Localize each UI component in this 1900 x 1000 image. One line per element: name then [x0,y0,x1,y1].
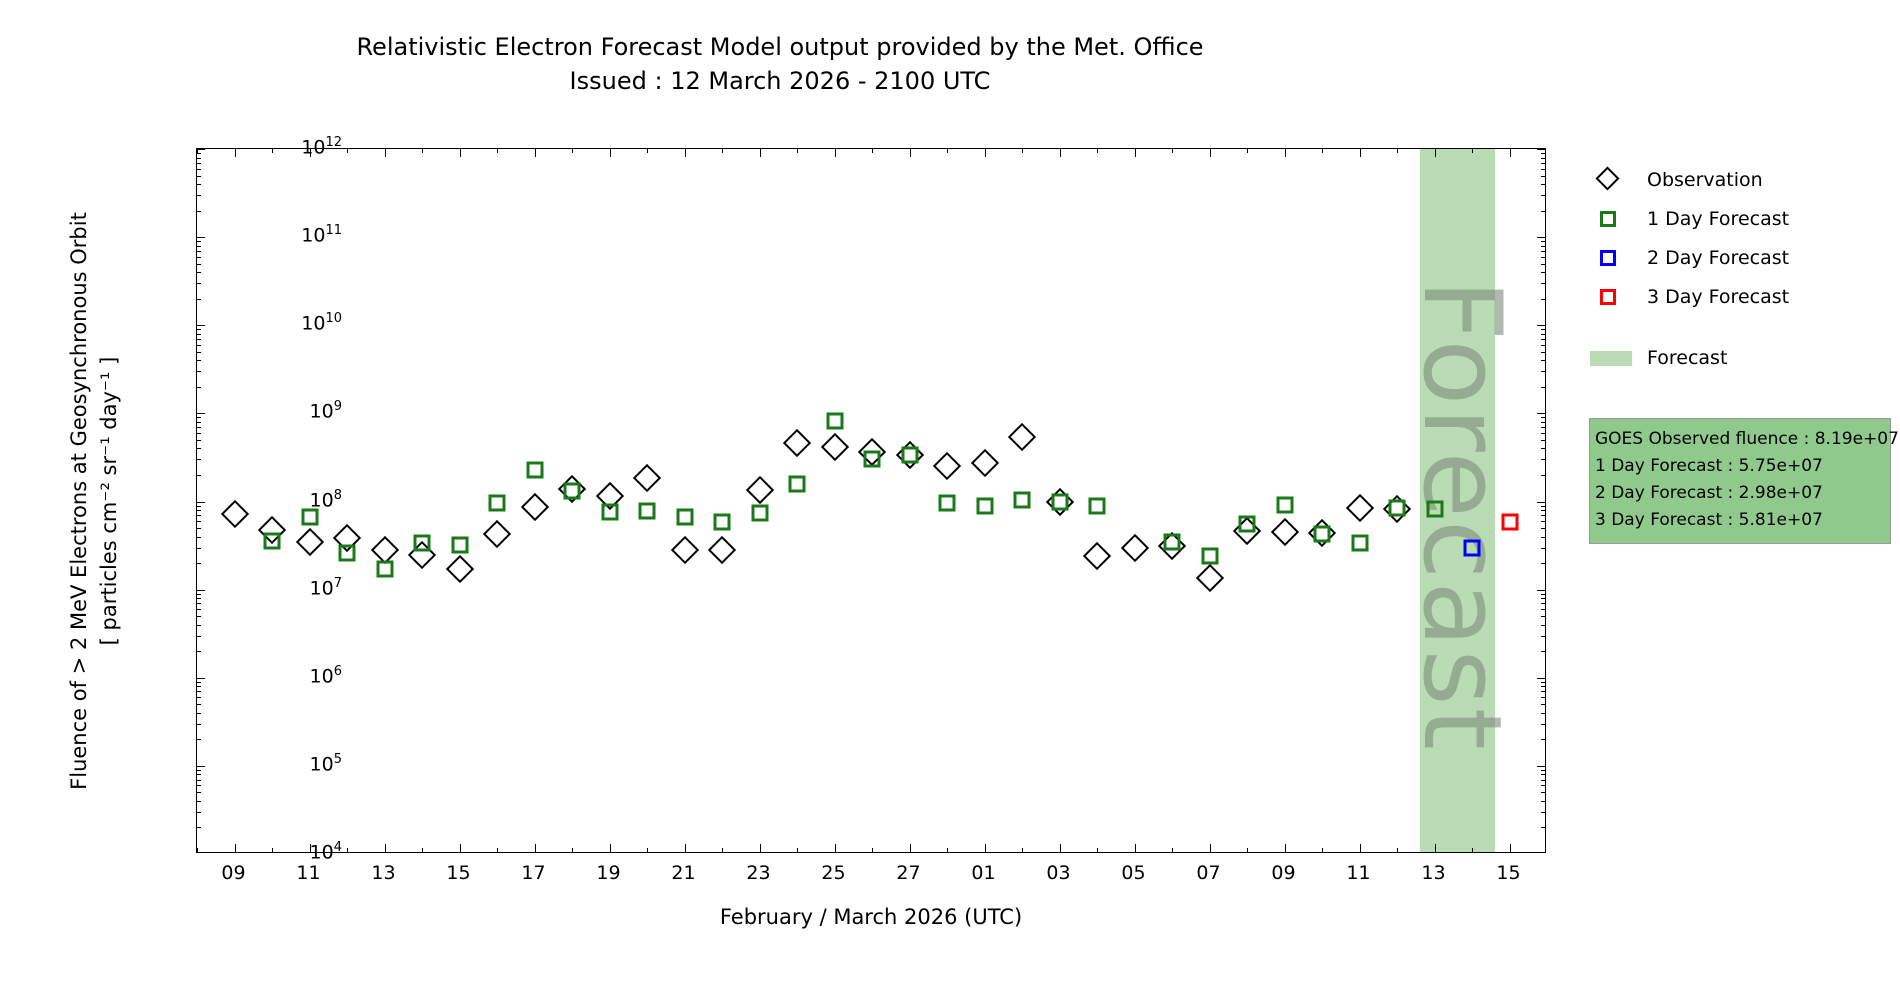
data-point-1-day-forecast [1239,515,1256,532]
y-axis-minor-tick [1541,609,1545,610]
y-axis-minor-tick [1541,153,1545,154]
legend-item-label: 1 Day Forecast [1636,208,1789,230]
x-axis-tick [385,844,386,852]
y-axis-minor-tick [1541,440,1545,441]
data-point-observation [670,536,698,564]
legend-item-observation[interactable]: Observation [1588,160,1888,199]
y-axis-minor-tick [197,724,201,725]
y-axis-minor-tick [197,427,201,428]
y-axis-tick [197,590,205,591]
x-axis-tick [1135,844,1136,852]
y-axis-minor-tick [1541,603,1545,604]
y-axis-minor-tick [1541,521,1545,522]
y-axis-minor-tick [197,153,201,154]
data-point-1-day-forecast [1426,501,1443,518]
y-axis-minor-tick [197,211,201,212]
chart-legend: Observation1 Day Forecast2 Day Forecast3… [1588,160,1888,377]
y-axis-minor-tick [1541,713,1545,714]
y-axis-minor-tick [197,774,201,775]
data-point-1-day-forecast [601,504,618,521]
x-axis-minor-tick [947,848,948,852]
y-axis-minor-tick [1541,427,1545,428]
y-axis-minor-tick [197,691,201,692]
y-axis-minor-tick [1541,682,1545,683]
data-point-1-day-forecast [564,483,581,500]
y-axis-minor-tick [1541,774,1545,775]
y-axis-minor-tick [197,158,201,159]
data-point-observation [1083,542,1111,570]
data-point-1-day-forecast [1314,525,1331,542]
y-axis-minor-tick [1541,598,1545,599]
data-point-observation [1195,564,1223,592]
y-axis-minor-tick [1541,184,1545,185]
x-axis-tick [535,844,536,852]
x-axis-tick [685,149,686,157]
y-axis-minor-tick [197,339,201,340]
y-axis-minor-tick [197,625,201,626]
y-axis-minor-tick [197,528,201,529]
data-point-observation [933,452,961,480]
data-point-1-day-forecast [901,446,918,463]
info-box-line: 3 Day Forecast : 5.81e+07 [1595,507,1885,534]
x-axis-tick-label: 11 [1329,862,1389,884]
x-axis-minor-tick [197,848,198,852]
y-axis-tick [1537,325,1545,326]
x-axis-minor-tick [347,149,348,153]
y-axis-minor-tick [1541,506,1545,507]
data-point-1-day-forecast [1164,533,1181,550]
y-axis-minor-tick [197,739,201,740]
y-axis-minor-tick [1541,459,1545,460]
data-point-1-day-forecast [676,509,693,526]
band-swatch-icon [1588,345,1636,371]
y-axis-minor-tick [1541,704,1545,705]
x-axis-minor-tick [1322,149,1323,153]
y-axis-tick [1537,678,1545,679]
x-axis-minor-tick [1472,149,1473,153]
x-axis-tick [610,149,611,157]
data-point-observation [220,499,248,527]
legend-marker-glyph [1595,166,1619,190]
y-axis-minor-tick [197,433,201,434]
x-axis-minor-tick [872,149,873,153]
y-axis-tick [1537,590,1545,591]
y-axis-minor-tick [197,801,201,802]
x-axis-tick [685,844,686,852]
x-axis-tick-label: 03 [1029,862,1089,884]
y-axis-minor-tick [197,176,201,177]
y-axis-minor-tick [1541,339,1545,340]
y-axis-minor-tick [197,329,201,330]
data-point-observation [783,429,811,457]
y-axis-minor-tick [197,272,201,273]
square-icon [1588,206,1636,232]
x-axis-tick [610,844,611,852]
y-axis-minor-tick [197,697,201,698]
y-axis-minor-tick [1541,299,1545,300]
data-point-1-day-forecast [1351,534,1368,551]
x-axis-minor-tick [1172,149,1173,153]
plot-area: Forecast [196,148,1546,853]
data-point-1-day-forecast [264,532,281,549]
data-point-1-day-forecast [1014,491,1031,508]
y-axis-minor-tick [1541,417,1545,418]
legend-item-label: 3 Day Forecast [1636,286,1789,308]
legend-item-2-day-forecast[interactable]: 2 Day Forecast [1588,238,1888,277]
data-point-1-day-forecast [1389,500,1406,517]
x-axis-tick [1435,149,1436,157]
data-point-1-day-forecast [939,494,956,511]
data-point-1-day-forecast [751,504,768,521]
data-point-1-day-forecast [1201,548,1218,565]
y-axis-minor-tick [197,686,201,687]
y-axis-minor-tick [197,264,201,265]
y-axis-minor-tick [197,169,201,170]
data-point-1-day-forecast [789,475,806,492]
data-point-1-day-forecast [639,503,656,520]
y-axis-minor-tick [1541,211,1545,212]
y-axis-tick-label: 1012 [301,135,342,158]
y-axis-minor-tick [197,598,201,599]
legend-item-3-day-forecast[interactable]: 3 Day Forecast [1588,277,1888,316]
fluence-info-box: GOES Observed fluence : 8.19e+071 Day Fo… [1589,418,1891,544]
data-point-observation [708,536,736,564]
x-axis-minor-tick [647,149,648,153]
x-axis-tick [1285,149,1286,157]
y-axis-tick [197,149,205,150]
x-axis-tick [460,844,461,852]
x-axis-tick [385,149,386,157]
data-point-1-day-forecast [526,461,543,478]
y-axis-minor-tick [1541,724,1545,725]
y-axis-minor-tick [197,334,201,335]
x-axis-tick [1360,844,1361,852]
y-axis-tick-label: 109 [310,399,342,422]
y-axis-tick [197,237,205,238]
x-axis-minor-tick [497,149,498,153]
y-axis-minor-tick [1541,594,1545,595]
data-point-1-day-forecast [714,514,731,531]
y-axis-label: Fluence of > 2 MeV Electrons at Geosynch… [74,148,114,853]
y-axis-tick [1537,149,1545,150]
y-axis-minor-tick [197,448,201,449]
x-axis-minor-tick [197,149,198,153]
x-axis-minor-tick [572,149,573,153]
y-axis-minor-tick [197,506,201,507]
data-point-2-day-forecast [1464,539,1481,556]
x-axis-tick-label: 15 [429,862,489,884]
y-axis-minor-tick [1541,563,1545,564]
y-axis-label-line1: Fluence of > 2 MeV Electrons at Geosynch… [67,212,91,790]
x-axis-minor-tick [1397,848,1398,852]
legend-marker-glyph [1590,351,1632,366]
x-axis-minor-tick [497,848,498,852]
x-axis-tick [1135,149,1136,157]
y-axis-minor-tick [197,827,201,828]
y-axis-minor-tick [1541,329,1545,330]
y-axis-minor-tick [1541,691,1545,692]
square-icon [1588,284,1636,310]
y-axis-minor-tick [1541,537,1545,538]
legend-item-label: Forecast [1636,347,1727,369]
y-axis-minor-tick [197,283,201,284]
y-axis-minor-tick [1541,246,1545,247]
x-axis-tick [1210,844,1211,852]
y-axis-tick [1537,237,1545,238]
y-axis-minor-tick [197,246,201,247]
x-axis-minor-tick [422,848,423,852]
y-axis-tick-label: 105 [310,752,342,775]
x-axis-tick [1060,149,1061,157]
x-axis-tick-label: 25 [804,862,864,884]
y-axis-tick-label: 106 [310,664,342,687]
y-axis-minor-tick [1541,770,1545,771]
x-axis-minor-tick [422,149,423,153]
x-axis-tick-label: 07 [1179,862,1239,884]
y-axis-minor-tick [1541,352,1545,353]
x-axis-tick [535,149,536,157]
info-box-line: GOES Observed fluence : 8.19e+07 [1595,426,1885,453]
y-axis-minor-tick [1541,272,1545,273]
y-axis-minor-tick [197,651,201,652]
y-axis-minor-tick [197,770,201,771]
x-axis-minor-tick [272,149,273,153]
x-axis-minor-tick [722,149,723,153]
y-axis-minor-tick [197,812,201,813]
y-axis-minor-tick [197,704,201,705]
y-axis-minor-tick [197,548,201,549]
y-axis-minor-tick [197,352,201,353]
y-axis-minor-tick [1541,812,1545,813]
y-axis-tick [1537,413,1545,414]
y-axis-minor-tick [197,251,201,252]
y-axis-minor-tick [1541,510,1545,511]
y-axis-minor-tick [197,713,201,714]
y-axis-minor-tick [1541,176,1545,177]
x-axis-minor-tick [647,848,648,852]
y-axis-minor-tick [197,603,201,604]
y-axis-minor-tick [1541,515,1545,516]
data-point-observation [1008,423,1036,451]
y-axis-minor-tick [1541,334,1545,335]
data-point-observation [1270,518,1298,546]
y-axis-tick [197,502,205,503]
y-axis-minor-tick [1541,548,1545,549]
x-axis-tick-label: 01 [954,862,1014,884]
x-axis-minor-tick [1172,848,1173,852]
data-point-observation [295,528,323,556]
y-axis-minor-tick [197,440,201,441]
y-axis-tick-label: 1010 [301,311,342,334]
y-axis-minor-tick [197,636,201,637]
y-axis-minor-tick [1541,387,1545,388]
x-axis-tick [985,149,986,157]
legend-item-forecast[interactable]: Forecast [1588,338,1888,377]
data-point-1-day-forecast [1276,496,1293,513]
x-axis-minor-tick [572,848,573,852]
x-axis-minor-tick [1247,848,1248,852]
y-axis-minor-tick [197,563,201,564]
y-axis-minor-tick [197,515,201,516]
x-axis-tick-label: 09 [1254,862,1314,884]
x-axis-tick [460,149,461,157]
x-axis-tick [1060,844,1061,852]
y-axis-minor-tick [1541,158,1545,159]
legend-marker-glyph [1600,250,1616,266]
y-axis-minor-tick [197,594,201,595]
x-axis-tick [760,149,761,157]
data-point-1-day-forecast [414,534,431,551]
y-axis-tick-label: 104 [310,840,342,863]
x-axis-tick [835,844,836,852]
y-axis-minor-tick [1541,371,1545,372]
x-axis-tick [1360,149,1361,157]
x-axis-minor-tick [797,848,798,852]
y-axis-minor-tick [1541,241,1545,242]
x-axis-minor-tick [1472,848,1473,852]
x-axis-minor-tick [272,848,273,852]
x-axis-tick-label: 13 [354,862,414,884]
y-axis-minor-tick [197,475,201,476]
x-axis-tick-label: 13 [1404,862,1464,884]
y-axis-tick-label: 1011 [301,223,342,246]
x-axis-tick-label: 21 [654,862,714,884]
x-axis-label: February / March 2026 (UTC) [196,905,1546,929]
data-point-observation [1120,533,1148,561]
x-axis-tick [1510,844,1511,852]
x-axis-tick [235,149,236,157]
legend-item-label: 2 Day Forecast [1636,247,1789,269]
y-axis-minor-tick [1541,283,1545,284]
y-axis-tick [197,413,205,414]
y-axis-minor-tick [197,510,201,511]
y-axis-minor-tick [1541,475,1545,476]
data-point-observation [445,555,473,583]
y-axis-minor-tick [197,371,201,372]
y-axis-minor-tick [197,682,201,683]
y-axis-minor-tick [197,387,201,388]
x-axis-minor-tick [1097,848,1098,852]
x-axis-tick-label: 19 [579,862,639,884]
y-axis-minor-tick [1541,257,1545,258]
y-axis-minor-tick [1541,785,1545,786]
y-axis-tick [197,678,205,679]
x-axis-tick-label: 11 [279,862,339,884]
y-axis-minor-tick [1541,360,1545,361]
y-axis-minor-tick [1541,433,1545,434]
legend-marker-glyph [1600,211,1616,227]
data-point-1-day-forecast [301,509,318,526]
data-point-1-day-forecast [976,498,993,515]
y-axis-minor-tick [1541,616,1545,617]
data-point-1-day-forecast [451,537,468,554]
square-icon [1588,245,1636,271]
data-point-observation [820,432,848,460]
y-axis-minor-tick [1541,697,1545,698]
legend-item-1-day-forecast[interactable]: 1 Day Forecast [1588,199,1888,238]
x-axis-tick-label: 17 [504,862,564,884]
data-point-1-day-forecast [826,412,843,429]
x-axis-tick [985,844,986,852]
y-axis-minor-tick [197,459,201,460]
y-axis-minor-tick [197,184,201,185]
y-axis-minor-tick [197,616,201,617]
data-point-observation [1345,494,1373,522]
y-axis-tick-label: 107 [310,576,342,599]
x-axis-tick-label: 05 [1104,862,1164,884]
y-axis-tick [1537,766,1545,767]
data-point-1-day-forecast [1089,498,1106,515]
data-point-1-day-forecast [376,561,393,578]
y-axis-tick [1537,502,1545,503]
y-axis-minor-tick [1541,739,1545,740]
x-axis-tick-label: 23 [729,862,789,884]
y-axis-minor-tick [1541,651,1545,652]
x-axis-minor-tick [1097,149,1098,153]
y-axis-minor-tick [1541,801,1545,802]
y-axis-minor-tick [1541,636,1545,637]
y-axis-minor-tick [1541,686,1545,687]
y-axis-minor-tick [197,241,201,242]
y-axis-minor-tick [197,521,201,522]
y-axis-minor-tick [1541,625,1545,626]
x-axis-minor-tick [797,149,798,153]
x-axis-minor-tick [1022,149,1023,153]
x-axis-tick [1510,149,1511,157]
y-axis-minor-tick [1541,169,1545,170]
x-axis-minor-tick [1397,149,1398,153]
y-axis-tick-label: 108 [310,488,342,511]
y-axis-minor-tick [197,792,201,793]
x-axis-minor-tick [1247,149,1248,153]
data-point-3-day-forecast [1501,514,1518,531]
y-axis-minor-tick [1541,251,1545,252]
y-axis-minor-tick [1541,827,1545,828]
x-axis-tick [910,149,911,157]
y-axis-label-line2: [ particles cm⁻² sr⁻¹ day⁻¹ ] [97,356,121,645]
y-axis-minor-tick [1541,528,1545,529]
x-axis-minor-tick [722,848,723,852]
data-point-1-day-forecast [1051,493,1068,510]
legend-item-label: Observation [1636,169,1763,191]
diamond-icon [1588,167,1636,193]
y-axis-tick [197,325,205,326]
data-point-observation [745,476,773,504]
x-axis-tick [760,844,761,852]
y-axis-minor-tick [197,417,201,418]
data-point-observation [520,493,548,521]
y-axis-minor-tick [1541,448,1545,449]
y-axis-minor-tick [197,195,201,196]
x-axis-tick-label: 09 [204,862,264,884]
x-axis-tick [1210,149,1211,157]
legend-marker-glyph [1600,289,1616,305]
x-axis-tick [1285,844,1286,852]
x-axis-minor-tick [347,848,348,852]
x-axis-tick [910,844,911,852]
y-axis-minor-tick [1541,422,1545,423]
info-box-line: 1 Day Forecast : 5.75e+07 [1595,453,1885,480]
y-axis-minor-tick [197,163,201,164]
y-axis-minor-tick [197,780,201,781]
y-axis-minor-tick [1541,195,1545,196]
y-axis-minor-tick [197,257,201,258]
y-axis-minor-tick [197,360,201,361]
data-point-1-day-forecast [339,545,356,562]
y-axis-minor-tick [197,299,201,300]
y-axis-minor-tick [1541,780,1545,781]
x-axis-tick-label: 27 [879,862,939,884]
